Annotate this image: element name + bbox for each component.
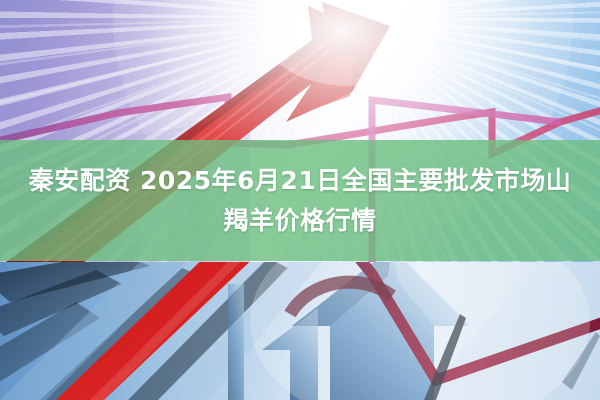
bottom-scene-graphics bbox=[0, 262, 600, 400]
bottom-bloom bbox=[250, 262, 590, 400]
title-line-1: 秦安配资 2025年6月21日全国主要批发市场山 bbox=[29, 161, 571, 201]
bottom-scene-background bbox=[0, 262, 600, 400]
poster-title: 秦安配资 2025年6月21日全国主要批发市场山 羯羊价格行情 bbox=[0, 140, 600, 261]
poster-image: 秦安配资 2025年6月21日全国主要批发市场山 羯羊价格行情 bbox=[0, 0, 600, 400]
title-line-2: 羯羊价格行情 bbox=[223, 201, 376, 241]
